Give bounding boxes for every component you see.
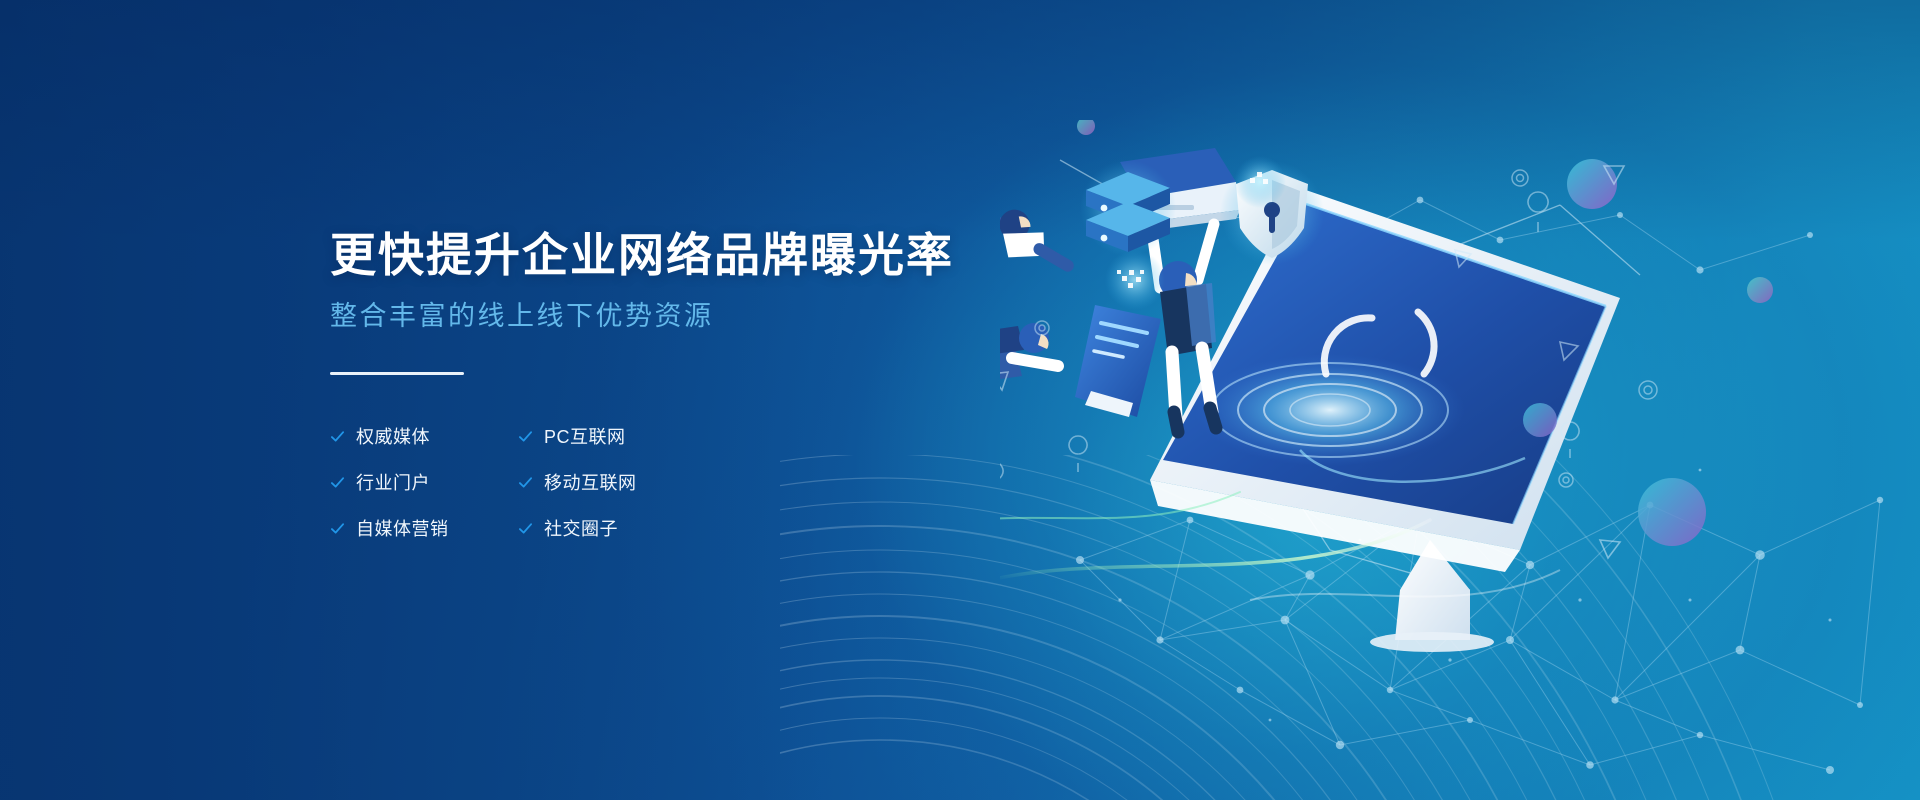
feature-label: 行业门户 (356, 469, 430, 495)
hero-banner: 更快提升企业网络品牌曝光率 整合丰富的线上线下优势资源 权威媒体 PC互联网 (0, 0, 1920, 800)
floating-person-upper (1000, 130, 1068, 325)
list-item: 自媒体营销 (330, 515, 518, 541)
page-subtitle: 整合丰富的线上线下优势资源 (330, 300, 970, 334)
feature-label: 社交圈子 (544, 515, 618, 541)
check-icon (518, 429, 533, 444)
feature-label: PC互联网 (544, 423, 626, 449)
divider (330, 372, 464, 375)
feature-label: 移动互联网 (544, 469, 637, 495)
feature-label: 权威媒体 (356, 423, 430, 449)
check-icon (518, 475, 533, 490)
check-icon (518, 521, 533, 536)
list-item: PC互联网 (518, 423, 970, 449)
feature-label: 自媒体营销 (356, 515, 449, 541)
page-title: 更快提升企业网络品牌曝光率 (330, 228, 970, 282)
list-item: 移动互联网 (518, 469, 970, 495)
hero-content: 更快提升企业网络品牌曝光率 整合丰富的线上线下优势资源 权威媒体 PC互联网 (330, 228, 970, 541)
check-icon (330, 429, 345, 444)
feature-list: 权威媒体 PC互联网 行业门户 移动互联网 (330, 423, 970, 541)
list-item: 社交圈子 (518, 515, 970, 541)
check-icon (330, 521, 345, 536)
list-item: 行业门户 (330, 469, 518, 495)
list-item: 权威媒体 (330, 423, 518, 449)
network-technology-illustration (1000, 120, 1920, 680)
check-icon (330, 475, 345, 490)
smartphone-icon (1075, 305, 1161, 417)
server-stack-icon (1080, 160, 1176, 256)
floating-person-lower (1000, 323, 1058, 404)
